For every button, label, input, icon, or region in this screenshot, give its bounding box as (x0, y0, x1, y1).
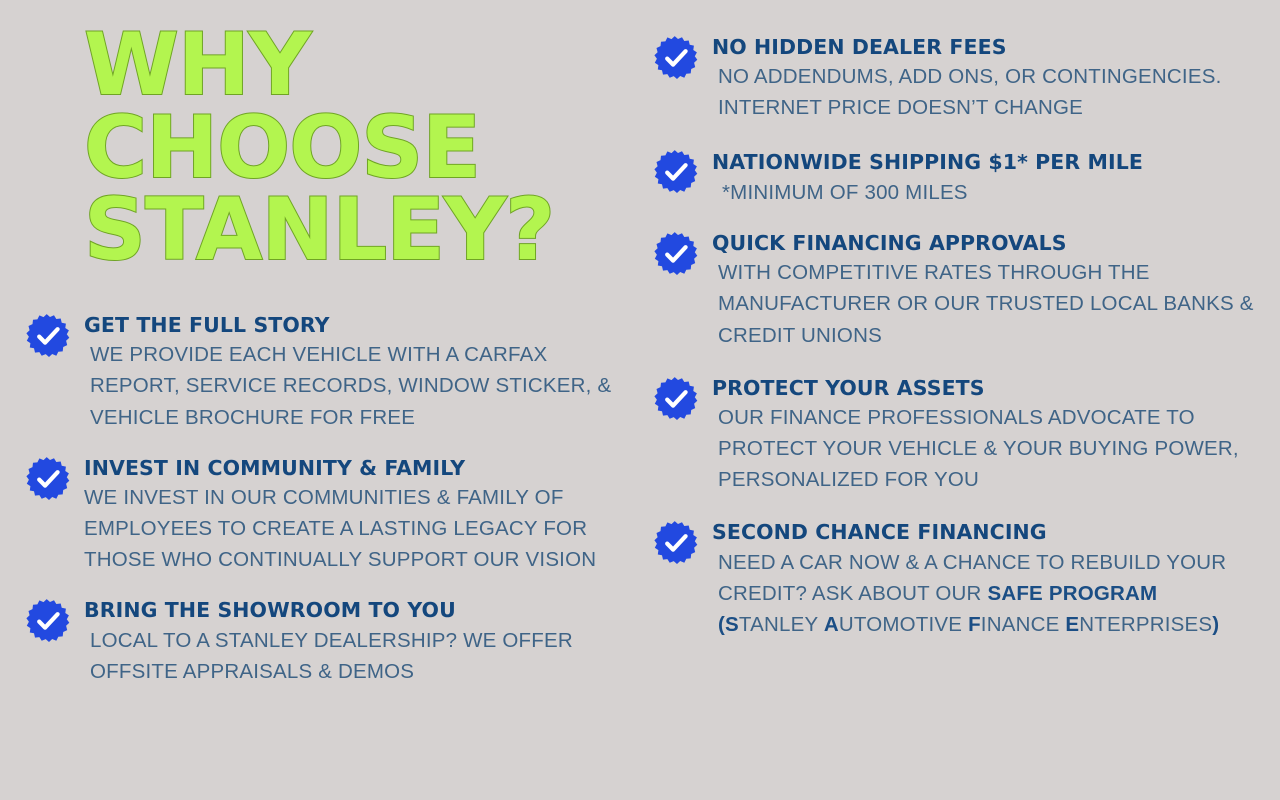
verified-check-icon (654, 232, 698, 276)
benefit-body: LOCAL TO A STANLEY DEALERSHIP? WE OFFER … (84, 625, 626, 687)
benefit-body: OUR FINANCE PROFESSIONALS ADVOCATE TO PR… (712, 402, 1254, 495)
benefit-title: INVEST IN COMMUNITY & FAMILY (84, 455, 626, 481)
benefit-body-run: A (824, 613, 839, 636)
headline-line-1: WHY (84, 24, 604, 107)
benefit-title: BRING THE SHOWROOM TO YOU (84, 597, 626, 623)
benefit-title: QUICK FINANCING APPROVALS (712, 230, 1254, 256)
benefit-body-run: F (968, 613, 981, 636)
benefit-item-protect-your-assets: PROTECT YOUR ASSETS OUR FINANCE PROFESSI… (654, 375, 1254, 496)
benefit-item-quick-financing-approvals: QUICK FINANCING APPROVALS WITH COMPETITI… (654, 230, 1254, 351)
benefit-body: WE INVEST IN OUR COMMUNITIES & FAMILY OF… (84, 482, 626, 575)
benefits-list-right: NO HIDDEN DEALER FEES NO ADDENDUMS, ADD … (654, 34, 1254, 656)
benefit-body-run: ) (1212, 613, 1219, 636)
page-title: WHY CHOOSE STANLEY? (84, 24, 604, 272)
benefit-body-run: INANCE (981, 613, 1066, 636)
benefit-body-run: NTERPRISES (1079, 613, 1212, 636)
benefit-body-run: E (1065, 613, 1079, 636)
benefit-title: NATIONWIDE SHIPPING $1* PER MILE (712, 148, 1254, 176)
benefit-body: NO ADDENDUMS, ADD ONS, OR CONTINGENCIES.… (712, 61, 1254, 123)
benefit-title: PROTECT YOUR ASSETS (712, 375, 1254, 401)
verified-check-icon (654, 377, 698, 421)
benefit-item-invest-in-community-family: INVEST IN COMMUNITY & FAMILY WE INVEST I… (26, 455, 626, 576)
verified-check-icon (26, 314, 70, 358)
verified-check-icon (654, 150, 698, 194)
benefit-item-no-hidden-dealer-fees: NO HIDDEN DEALER FEES NO ADDENDUMS, ADD … (654, 34, 1254, 124)
benefits-list-left: GET THE FULL STORY WE PROVIDE EACH VEHIC… (26, 312, 626, 703)
benefit-title: NO HIDDEN DEALER FEES (712, 34, 1254, 60)
benefit-title: GET THE FULL STORY (84, 312, 626, 338)
benefit-body: WE PROVIDE EACH VEHICLE WITH A CARFAX RE… (84, 339, 626, 432)
verified-check-icon (654, 36, 698, 80)
benefit-item-second-chance-financing: SECOND CHANCE FINANCING NEED A CAR NOW &… (654, 519, 1254, 640)
benefit-item-nationwide-shipping: NATIONWIDE SHIPPING $1* PER MILE *MINIMU… (654, 148, 1254, 208)
benefit-body-rich: NEED A CAR NOW & A CHANCE TO REBUILD YOU… (712, 547, 1254, 640)
verified-check-icon (26, 457, 70, 501)
benefit-item-bring-the-showroom-to-you: BRING THE SHOWROOM TO YOU LOCAL TO A STA… (26, 597, 626, 687)
promo-panel: WHY CHOOSE STANLEY? GET THE FULL STORY W… (0, 0, 1280, 800)
benefit-body-run: UTOMOTIVE (839, 613, 968, 636)
benefit-body: *MINIMUM OF 300 MILES (712, 177, 1254, 208)
headline-line-2: CHOOSE (84, 107, 604, 190)
verified-check-icon (654, 521, 698, 565)
headline-line-3: STANLEY? (84, 189, 604, 272)
benefit-item-get-the-full-story: GET THE FULL STORY WE PROVIDE EACH VEHIC… (26, 312, 626, 433)
benefit-body: WITH COMPETITIVE RATES THROUGH THE MANUF… (712, 257, 1254, 350)
verified-check-icon (26, 599, 70, 643)
benefit-body-run: TANLEY (739, 613, 824, 636)
benefit-title: SECOND CHANCE FINANCING (712, 519, 1254, 545)
